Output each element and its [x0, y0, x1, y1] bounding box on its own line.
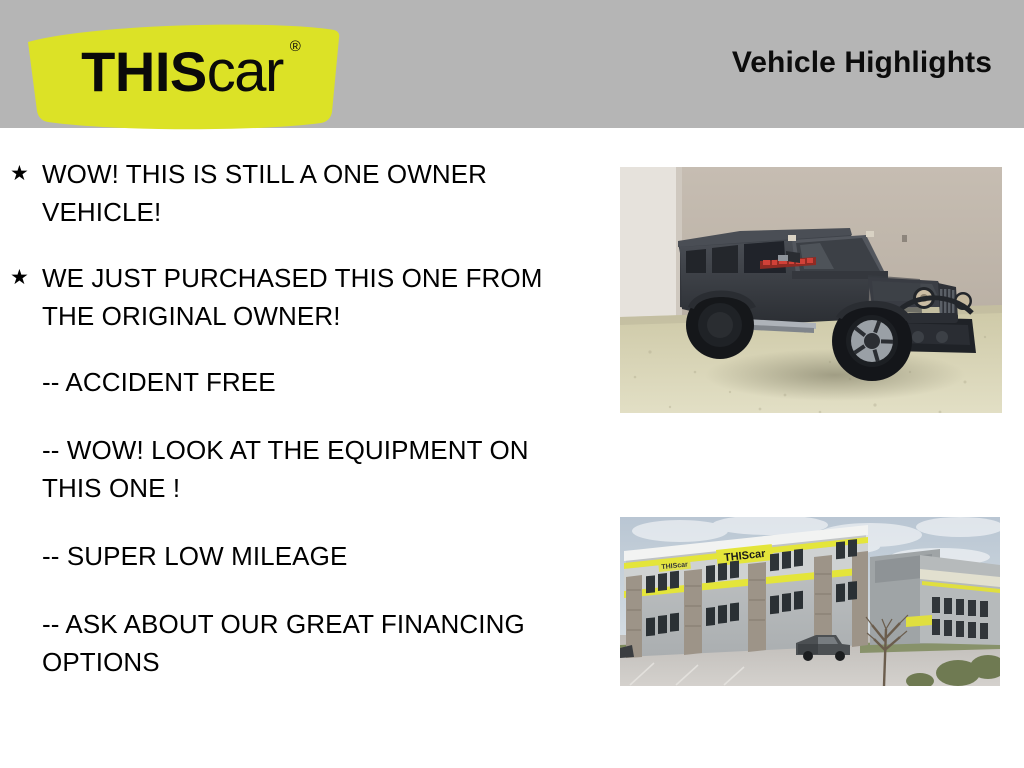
slide-vehicle-highlights: THIScar® Vehicle Highlights ★ WOW! THIS … [0, 0, 1024, 768]
page-title: Vehicle Highlights [732, 46, 992, 80]
highlight-text: -- SUPER LOW MILEAGE [42, 537, 590, 575]
logo-wordmark: THIScar® [22, 16, 342, 132]
thiscar-logo[interactable]: THIScar® [22, 16, 342, 132]
list-item: ★ WOW! THIS IS STILL A ONE OWNER VEHICLE… [10, 155, 590, 231]
list-item: ★ WE JUST PURCHASED THIS ONE FROM THE OR… [10, 259, 590, 335]
highlight-text: WE JUST PURCHASED THIS ONE FROM THE ORIG… [42, 259, 590, 335]
highlight-text: -- ACCIDENT FREE [42, 363, 590, 401]
logo-word-this: THIS [81, 40, 207, 103]
registered-mark-icon: ® [290, 39, 301, 54]
vehicle-photo[interactable] [620, 167, 1002, 413]
logo-word-car: car [207, 39, 283, 104]
highlight-text: -- ASK ABOUT OUR GREAT FINANCING OPTIONS [42, 605, 590, 681]
list-item: -- ASK ABOUT OUR GREAT FINANCING OPTIONS [10, 605, 590, 681]
list-item: -- SUPER LOW MILEAGE [10, 537, 590, 575]
highlight-text: -- WOW! LOOK AT THE EQUIPMENT ON THIS ON… [42, 431, 590, 507]
highlights-list: ★ WOW! THIS IS STILL A ONE OWNER VEHICLE… [10, 155, 590, 711]
star-bullet-icon: ★ [10, 259, 42, 297]
list-item: -- WOW! LOOK AT THE EQUIPMENT ON THIS ON… [10, 431, 590, 507]
list-item: -- ACCIDENT FREE [10, 363, 590, 401]
highlight-text: WOW! THIS IS STILL A ONE OWNER VEHICLE! [42, 155, 590, 231]
star-bullet-icon: ★ [10, 155, 42, 193]
dealership-photo[interactable]: THIScar THIScar [620, 517, 1000, 686]
